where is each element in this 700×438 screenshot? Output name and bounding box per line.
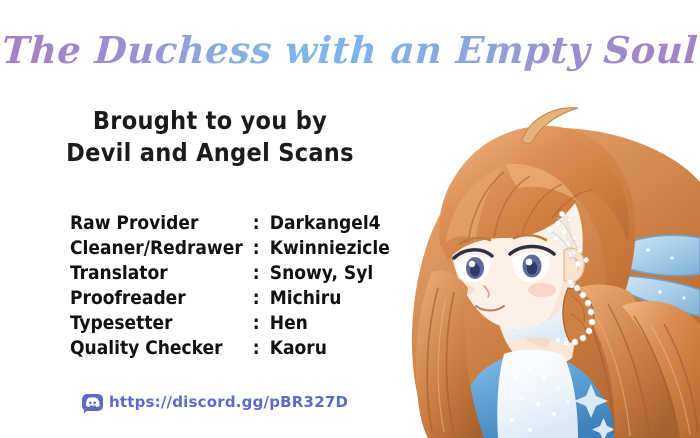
credit-role-label: Typesetter [70,314,253,339]
credit-role-label: Raw Provider [70,214,253,239]
table-row: Typesetter : Hen [70,314,390,339]
byline-line-2: Devil and Angel Scans [20,137,400,169]
credits-page: The Duchess with an Empty Soul Brought t… [0,0,700,438]
discord-url-text[interactable]: https://discord.gg/pBR327D [109,393,348,411]
byline: Brought to you by Devil and Angel Scans [20,105,400,169]
credit-separator: : [253,239,270,264]
credit-role-label: Translator [70,264,253,289]
credit-role-label: Cleaner/Redrawer [70,239,253,264]
credit-separator: : [253,339,270,364]
discord-link-row[interactable]: https://discord.gg/pBR327D [82,393,348,411]
table-row: Raw Provider : Darkangel4 [70,214,390,239]
table-row: Quality Checker : Kaoru [70,339,390,364]
credit-separator: : [253,214,270,239]
credit-separator: : [253,314,270,339]
table-row: Translator : Snowy, Syl [70,264,390,289]
credit-role-label: Quality Checker [70,339,253,364]
byline-line-1: Brought to you by [20,105,400,137]
discord-icon [82,394,103,411]
credit-separator: : [253,264,270,289]
character-illustration [372,92,700,438]
table-row: Cleaner/Redrawer : Kwinniezicle [70,239,390,264]
credits-table: Raw Provider : Darkangel4 Cleaner/Redraw… [70,214,390,364]
credit-role-label: Proofreader [70,289,253,314]
table-row: Proofreader : Michiru [70,289,390,314]
title-container: The Duchess with an Empty Soul [0,28,700,72]
series-title: The Duchess with an Empty Soul [1,28,699,72]
credit-separator: : [253,289,270,314]
